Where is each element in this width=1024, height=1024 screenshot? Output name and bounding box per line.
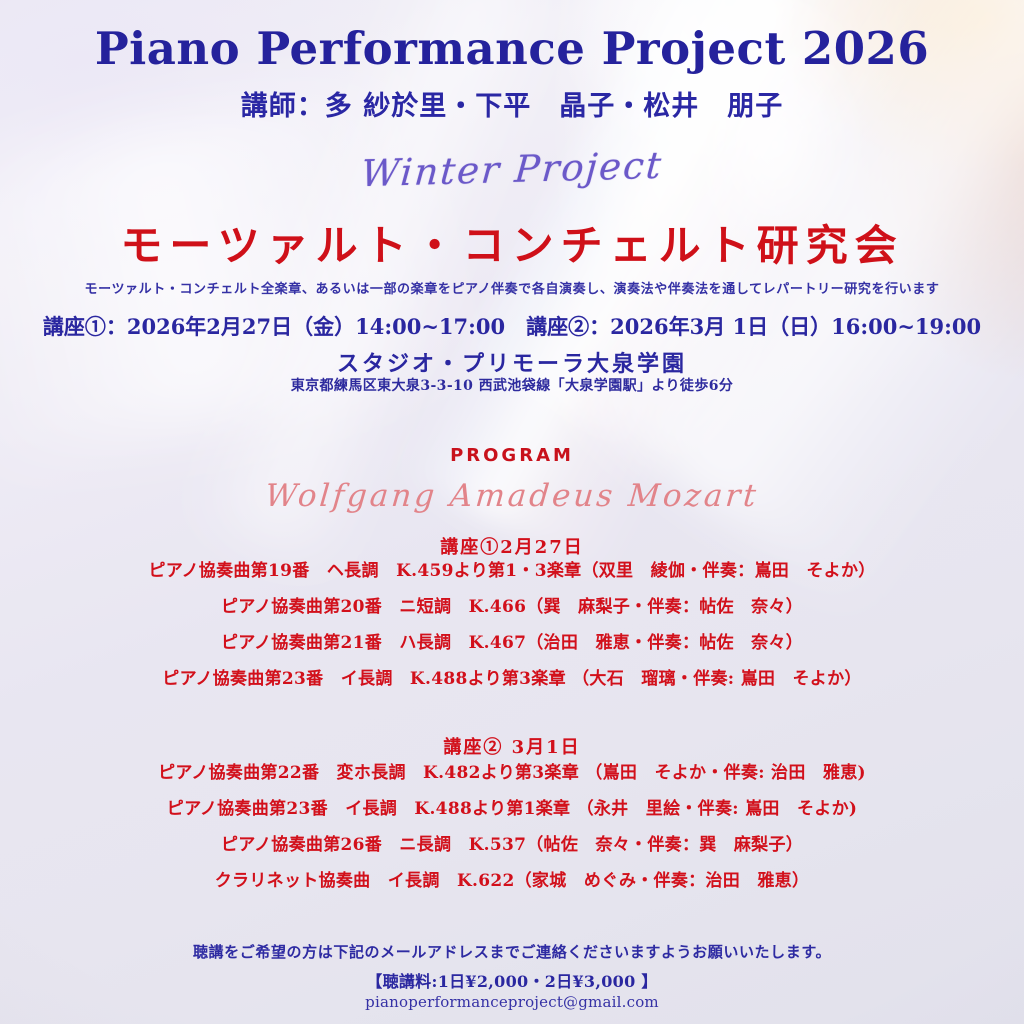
concert-poster: Piano Performance Project 2026 講師：多 紗於里・… — [0, 0, 1024, 1024]
section-heading-2: 講座② 3月1日 — [0, 733, 1024, 759]
program-item: ピアノ協奏曲第26番 ニ長調 K.537（帖佐 奈々・伴奏：巽 麻梨子） — [0, 837, 1024, 854]
program-item: ピアノ協奏曲第23番 イ長調 K.488より第3楽章 （大石 瑠璃・伴奏: 嶌田… — [0, 671, 1024, 688]
section-heading-1: 講座①2月27日 — [0, 533, 1024, 559]
footer-note: 聴講をご希望の方は下記のメールアドレスまでご連絡くださいますようお願いいたします… — [0, 941, 1024, 962]
poster-content: Piano Performance Project 2026 講師：多 紗於里・… — [0, 0, 1024, 1024]
dates-line: 講座①：2026年2月27日（金）14:00~17:00 講座②：2026年3月… — [0, 311, 1024, 341]
contact-email[interactable]: pianoperformanceproject@gmail.com — [0, 993, 1024, 1011]
program-item: ピアノ協奏曲第19番 ヘ長調 K.459より第1・3楽章（双里 綾伽・伴奏：嶌田… — [0, 563, 1024, 580]
composer-name: Wolfgang Amadeus Mozart — [0, 478, 1024, 514]
program-list-2: ピアノ協奏曲第22番 変ホ長調 K.482より第3楽章 （嶌田 そよか・伴奏: … — [0, 765, 1024, 909]
main-heading: モーツァルト・コンチェルト研究会 — [0, 212, 1024, 273]
program-item: ピアノ協奏曲第22番 変ホ長調 K.482より第3楽章 （嶌田 そよか・伴奏: … — [0, 765, 1024, 782]
instructors-line: 講師：多 紗於里・下平 晶子・松井 朋子 — [0, 84, 1024, 123]
script-subtitle: Winter Project — [0, 134, 1024, 206]
fee-line: 【聴講料:1日¥2,000・2日¥3,000 】 — [0, 968, 1024, 992]
program-item: ピアノ協奏曲第21番 ハ長調 K.467（治田 雅恵・伴奏：帖佐 奈々） — [0, 635, 1024, 652]
program-list-1: ピアノ協奏曲第19番 ヘ長調 K.459より第1・3楽章（双里 綾伽・伴奏：嶌田… — [0, 563, 1024, 707]
venue-name: スタジオ・プリモーラ大泉学園 — [0, 346, 1024, 378]
venue-address: 東京都練馬区東大泉3-3-10 西武池袋線「大泉学園駅」より徒歩6分 — [0, 375, 1024, 395]
program-label: Program — [0, 438, 1024, 468]
description-line: モーツァルト・コンチェルト全楽章、あるいは一部の楽章をピアノ伴奏で各自演奏し、演… — [0, 278, 1024, 297]
poster-title: Piano Performance Project 2026 — [0, 22, 1024, 75]
program-item: クラリネット協奏曲 イ長調 K.622（家城 めぐみ・伴奏：治田 雅恵） — [0, 873, 1024, 890]
program-item: ピアノ協奏曲第23番 イ長調 K.488より第1楽章 （永井 里絵・伴奏: 嶌田… — [0, 801, 1024, 818]
program-item: ピアノ協奏曲第20番 ニ短調 K.466（巽 麻梨子・伴奏：帖佐 奈々） — [0, 599, 1024, 616]
